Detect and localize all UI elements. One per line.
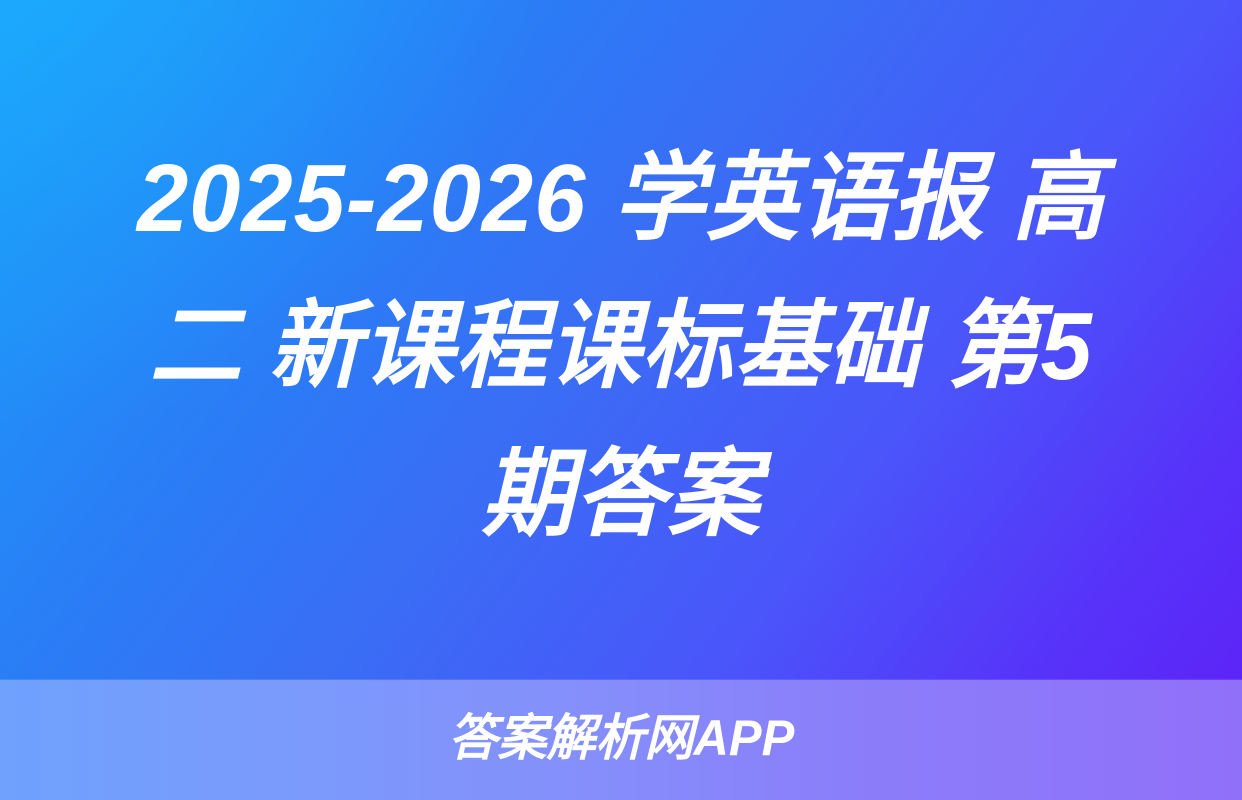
poster-title: 2025-2026 学英语报 高 二 新课程课标基础 第5 期答案 bbox=[0, 0, 1242, 680]
app-promo-banner[interactable]: 答案解析网APP bbox=[0, 680, 1242, 800]
answer-poster: 2025-2026 学英语报 高 二 新课程课标基础 第5 期答案 答案解析网A… bbox=[0, 0, 1242, 800]
app-name-label: 答案解析网APP bbox=[448, 713, 794, 763]
title-line-1: 2025-2026 学英语报 高 bbox=[79, 125, 1164, 273]
title-line-3: 期答案 bbox=[79, 421, 1164, 569]
title-line-2: 二 新课程课标基础 第5 bbox=[79, 273, 1164, 421]
